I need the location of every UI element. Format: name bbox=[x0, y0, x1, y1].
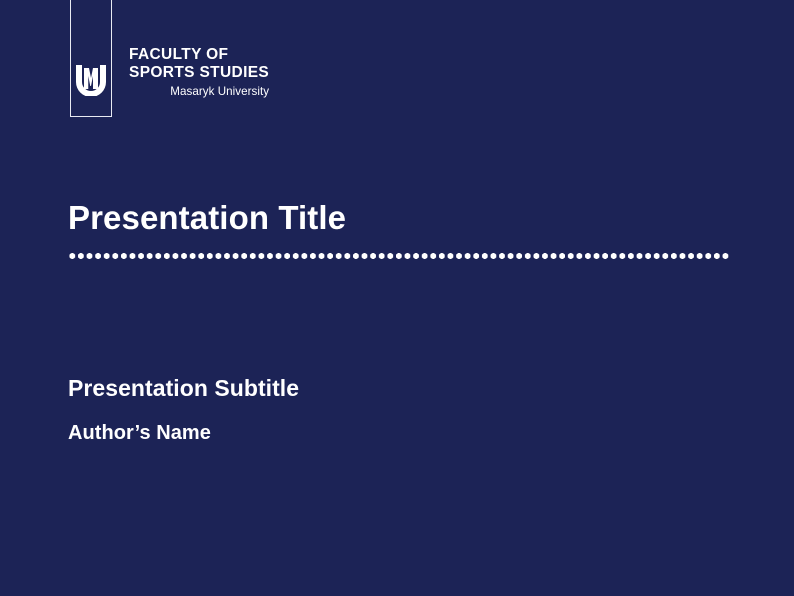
masaryk-university-mu-monogram-icon bbox=[76, 65, 106, 96]
faculty-line-2: SPORTS STUDIES bbox=[129, 64, 269, 82]
logo-frame bbox=[70, 0, 112, 117]
presentation-title: Presentation Title bbox=[68, 200, 748, 237]
university-logo-lockup: FACULTY OF SPORTS STUDIES Masaryk Univer… bbox=[70, 0, 269, 117]
dotted-divider bbox=[68, 253, 729, 259]
faculty-line-1: FACULTY OF bbox=[129, 46, 269, 64]
author-name: Author’s Name bbox=[68, 422, 748, 445]
subtitle-block: Presentation Subtitle Author’s Name bbox=[68, 375, 748, 445]
title-slide: FACULTY OF SPORTS STUDIES Masaryk Univer… bbox=[0, 0, 794, 596]
logo-text-block: FACULTY OF SPORTS STUDIES Masaryk Univer… bbox=[129, 0, 269, 98]
title-block: Presentation Title bbox=[68, 200, 748, 259]
presentation-subtitle: Presentation Subtitle bbox=[68, 375, 748, 401]
university-name: Masaryk University bbox=[129, 86, 269, 98]
